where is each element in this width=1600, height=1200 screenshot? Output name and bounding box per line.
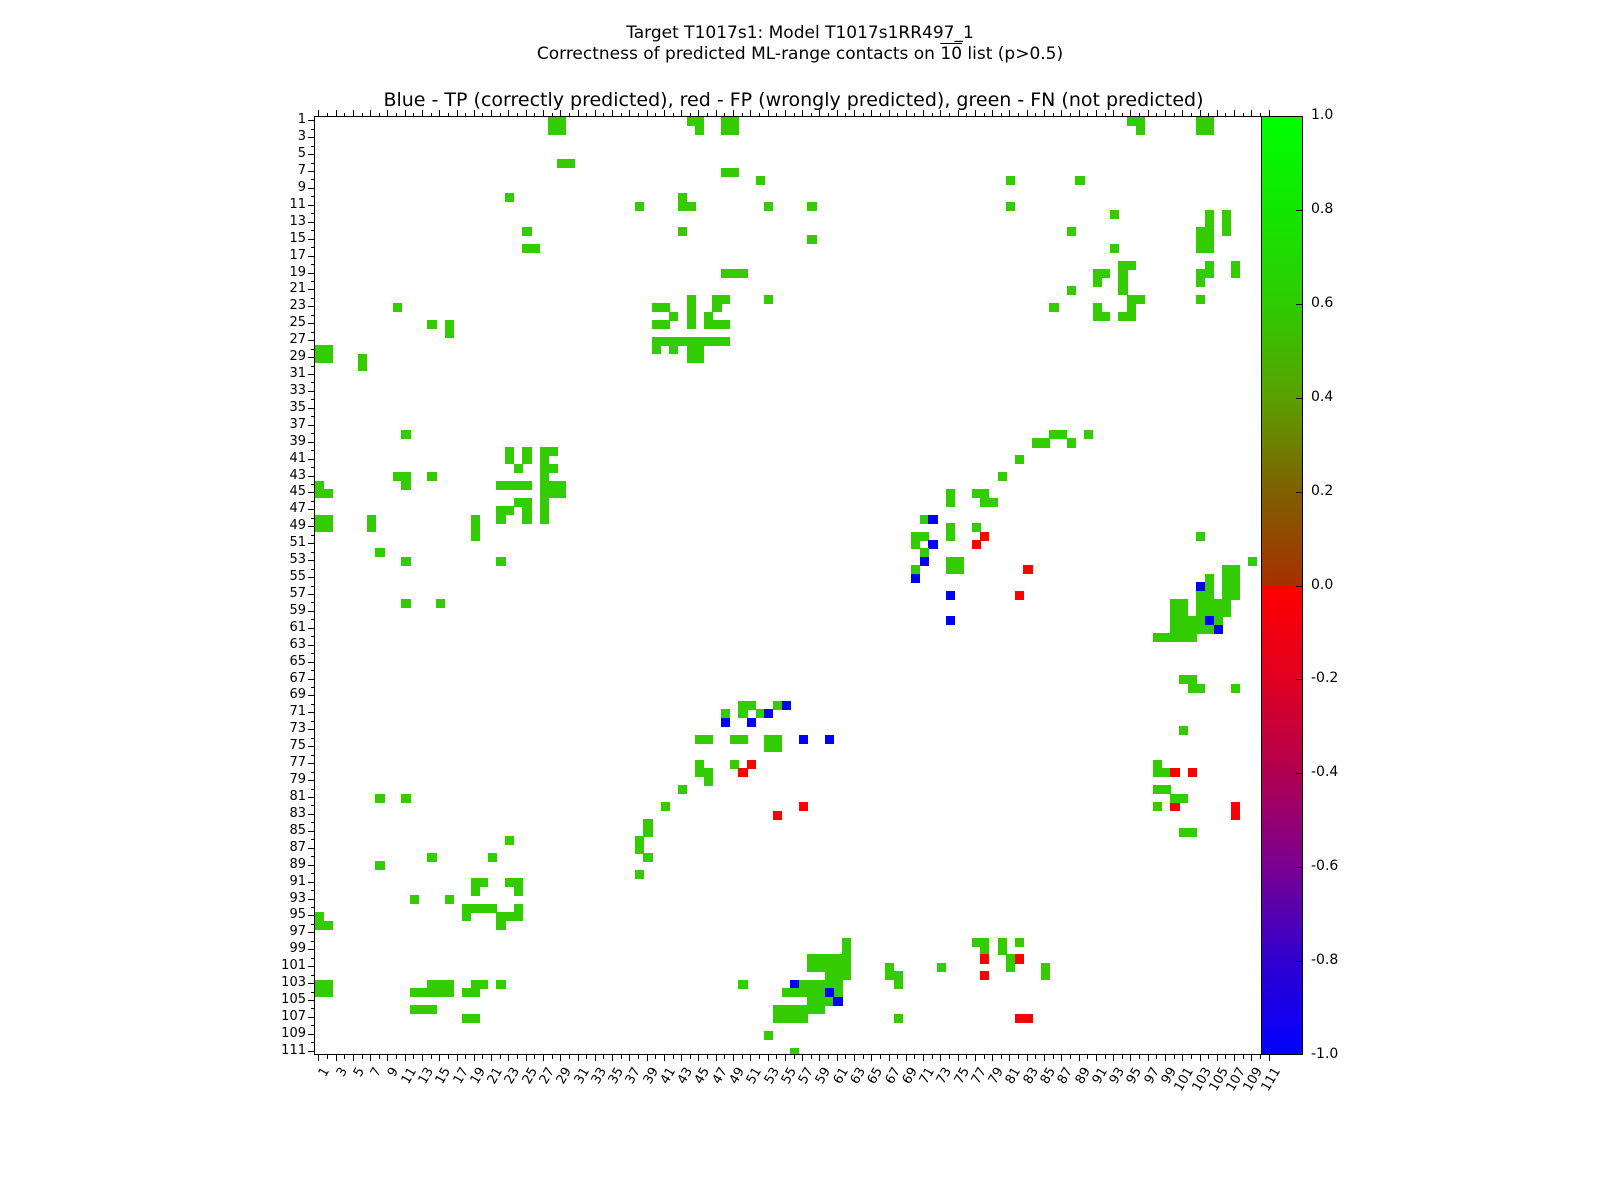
contact-cell-mirror: [704, 735, 713, 744]
y-tick-label: 95: [254, 907, 306, 922]
x-tick-bottom: [1165, 1055, 1166, 1061]
contact-cell-mirror: [1093, 278, 1102, 287]
contact-cell: [799, 1014, 808, 1023]
x-tick-label: 99: [1143, 1065, 1180, 1114]
x-tick-label: 39: [625, 1065, 662, 1114]
contact-cell-mirror: [1118, 286, 1127, 295]
contact-cell: [375, 548, 384, 557]
x-tick-label: 87: [1039, 1065, 1076, 1114]
y-tick-label: 103: [254, 975, 306, 990]
contact-cell: [1136, 125, 1145, 134]
x-tick-bottom: [914, 1055, 915, 1059]
contact-cell-mirror: [1196, 625, 1205, 634]
contact-cell-mirror: [410, 895, 419, 904]
x-tick-bottom: [750, 1055, 751, 1061]
y-tick-label: 17: [254, 248, 306, 263]
x-tick-label: 97: [1126, 1065, 1163, 1114]
colorbar-tick-label: 0.4: [1311, 389, 1333, 405]
suptitle-list-fraction: 10: [940, 44, 962, 64]
contact-cell: [738, 980, 747, 989]
contact-cells-layer: [315, 117, 1272, 1054]
contact-cell: [980, 971, 989, 980]
contact-cell: [972, 540, 981, 549]
contact-cell: [635, 845, 644, 854]
contact-cell: [462, 912, 471, 921]
x-tick-bottom: [776, 1055, 777, 1059]
contact-cell-mirror: [1023, 1014, 1032, 1023]
x-tick-label: 103: [1178, 1065, 1215, 1114]
y-tick-label: 77: [254, 755, 306, 770]
contact-cell-mirror: [954, 557, 963, 566]
contact-cell-mirror: [807, 235, 816, 244]
contact-cell-mirror: [548, 447, 557, 456]
contact-cell: [471, 988, 480, 997]
contact-cell: [1041, 438, 1050, 447]
contact-cell-mirror: [522, 227, 531, 236]
x-tick-bottom: [1061, 1055, 1062, 1061]
contact-cell: [773, 811, 782, 820]
contact-cell: [1006, 963, 1015, 972]
contact-cell: [324, 489, 333, 498]
x-tick-bottom: [560, 1055, 561, 1061]
x-tick-bottom: [940, 1055, 941, 1061]
contact-cell-mirror: [566, 159, 575, 168]
contact-cell-mirror: [1205, 244, 1214, 253]
x-tick-label: 83: [1005, 1065, 1042, 1114]
x-tick-bottom: [1001, 1055, 1002, 1059]
y-tick-label: 21: [254, 281, 306, 296]
x-tick-bottom: [837, 1055, 838, 1061]
x-tick-bottom: [647, 1055, 648, 1061]
y-tick-label: 107: [254, 1009, 306, 1024]
y-tick-label: 23: [254, 298, 306, 313]
contact-cell-mirror: [833, 997, 842, 1006]
y-tick-label: 35: [254, 400, 306, 415]
contact-cell: [1231, 684, 1240, 693]
contact-cell: [799, 735, 808, 744]
contact-cell: [1196, 684, 1205, 693]
x-tick-bottom: [819, 1055, 820, 1061]
contact-cell: [738, 735, 747, 744]
contact-cell: [1110, 244, 1119, 253]
contact-cell-mirror: [980, 954, 989, 963]
contact-cell: [488, 904, 497, 913]
x-tick-label: 27: [521, 1065, 558, 1114]
x-tick-label: 25: [504, 1065, 541, 1114]
contact-cell: [548, 464, 557, 473]
contact-cell: [1205, 125, 1214, 134]
contact-cell-mirror: [1188, 828, 1197, 837]
x-tick-bottom: [1044, 1055, 1045, 1061]
contact-cell: [721, 320, 730, 329]
contact-cell: [358, 362, 367, 371]
axes-title-legend: Blue - TP (correctly predicted), red - F…: [314, 89, 1273, 111]
contact-cell: [1067, 227, 1076, 236]
contact-cell-mirror: [401, 481, 410, 490]
contact-cell-mirror: [799, 802, 808, 811]
contact-cell-mirror: [479, 980, 488, 989]
contact-cell-mirror: [367, 523, 376, 532]
contact-cell: [436, 599, 445, 608]
x-tick-bottom: [923, 1055, 924, 1061]
colorbar-tick-label: 0.0: [1311, 577, 1333, 593]
contact-cell-mirror: [1023, 565, 1032, 574]
contact-cell: [445, 988, 454, 997]
contact-cell: [1214, 625, 1223, 634]
contact-cell-mirror: [738, 269, 747, 278]
contact-cell: [721, 718, 730, 727]
figure-suptitle-line-1: Target T1017s1: Model T1017s1RR497_1: [0, 22, 1600, 45]
contact-map-plot-area[interactable]: [314, 116, 1273, 1055]
contact-cell: [695, 735, 704, 744]
x-tick-bottom: [871, 1055, 872, 1061]
contact-cell: [496, 515, 505, 524]
contact-cell-mirror: [1127, 312, 1136, 321]
y-tick-label: 67: [254, 671, 306, 686]
x-tick-bottom: [396, 1055, 397, 1059]
contact-cell-mirror: [445, 895, 454, 904]
x-tick-label: 1: [296, 1065, 333, 1114]
contact-cell: [1067, 438, 1076, 447]
contact-map-figure: Target T1017s1: Model T1017s1RR497_1 Cor…: [0, 0, 1600, 1200]
contact-cell-mirror: [920, 557, 929, 566]
y-tick-label: 37: [254, 417, 306, 432]
contact-cell: [427, 320, 436, 329]
y-tick-label: 79: [254, 772, 306, 787]
y-tick-label: 3: [254, 129, 306, 144]
colorbar-tick-label: -0.4: [1311, 764, 1338, 780]
contact-cell-mirror: [946, 591, 955, 600]
x-tick-label: 89: [1057, 1065, 1094, 1114]
contact-cell: [522, 498, 531, 507]
contact-cell: [514, 464, 523, 473]
contact-cell: [885, 971, 894, 980]
colorbar-tick-label: -0.2: [1311, 670, 1338, 686]
contact-cell-mirror: [375, 861, 384, 870]
contact-cell-mirror: [678, 785, 687, 794]
x-tick-bottom: [439, 1055, 440, 1061]
x-tick-bottom: [465, 1055, 466, 1059]
y-tick-label: 45: [254, 484, 306, 499]
contact-cell-mirror: [678, 337, 687, 346]
contact-cell-mirror: [704, 320, 713, 329]
y-tick-label: 29: [254, 349, 306, 364]
contact-cell-mirror: [427, 853, 436, 862]
x-tick-bottom: [405, 1055, 406, 1061]
contact-cell: [989, 498, 998, 507]
x-tick-bottom: [880, 1055, 881, 1059]
x-tick-bottom: [1251, 1055, 1252, 1061]
y-tick-label: 75: [254, 738, 306, 753]
contact-cell: [954, 565, 963, 574]
contact-cell: [695, 768, 704, 777]
x-tick-label: 85: [1022, 1065, 1059, 1114]
contact-cell-mirror: [522, 515, 531, 524]
x-tick-bottom: [733, 1055, 734, 1061]
x-tick-bottom: [431, 1055, 432, 1059]
contact-cell: [946, 616, 955, 625]
x-tick-bottom: [1027, 1055, 1028, 1061]
x-tick-bottom: [802, 1055, 803, 1061]
contact-cell: [1196, 295, 1205, 304]
x-tick-bottom: [1139, 1055, 1140, 1059]
contact-cell: [730, 168, 739, 177]
x-tick-label: 29: [538, 1065, 575, 1114]
x-tick-label: 75: [936, 1065, 973, 1114]
contact-cell-mirror: [1179, 726, 1188, 735]
x-tick-bottom: [457, 1055, 458, 1061]
contact-cell-mirror: [704, 777, 713, 786]
contact-cell-mirror: [643, 828, 652, 837]
x-tick-bottom: [612, 1055, 613, 1061]
contact-cell-mirror: [946, 489, 955, 498]
x-tick-label: 43: [659, 1065, 696, 1114]
x-tick-bottom: [491, 1055, 492, 1061]
contact-cell: [393, 303, 402, 312]
x-tick-bottom: [1234, 1055, 1235, 1061]
x-tick-bottom: [889, 1055, 890, 1061]
contact-cell: [401, 599, 410, 608]
y-tick-label: 85: [254, 823, 306, 838]
x-tick-bottom: [448, 1055, 449, 1059]
y-tick-label: 59: [254, 603, 306, 618]
contact-cell-mirror: [1015, 455, 1024, 464]
x-tick-bottom: [526, 1055, 527, 1061]
x-tick-label: 3: [314, 1065, 351, 1114]
x-tick-bottom: [543, 1055, 544, 1061]
x-tick-bottom: [1070, 1055, 1071, 1059]
contact-cell-mirror: [1205, 616, 1214, 625]
contact-cell-mirror: [764, 295, 773, 304]
contact-cell-mirror: [1205, 269, 1214, 278]
contact-cell: [1075, 176, 1084, 185]
x-tick-bottom: [1269, 1055, 1270, 1061]
x-tick-bottom: [482, 1055, 483, 1059]
x-tick-bottom: [1182, 1055, 1183, 1061]
contact-cell-mirror: [747, 760, 756, 769]
x-tick-bottom: [413, 1055, 414, 1059]
contact-cell-mirror: [790, 1048, 799, 1055]
x-tick-bottom: [932, 1055, 933, 1059]
contact-cell-mirror: [324, 921, 333, 930]
x-tick-bottom: [1225, 1055, 1226, 1059]
x-tick-bottom: [906, 1055, 907, 1061]
x-tick-label: 107: [1212, 1065, 1249, 1114]
x-tick-bottom: [1191, 1055, 1192, 1059]
x-tick-label: 23: [486, 1065, 523, 1114]
contact-cell: [833, 963, 842, 972]
contact-cell: [1006, 202, 1015, 211]
contact-cell-mirror: [928, 515, 937, 524]
x-tick-bottom: [1130, 1055, 1131, 1061]
contact-cell: [1231, 269, 1240, 278]
contact-cell: [1067, 286, 1076, 295]
x-tick-bottom: [794, 1055, 795, 1059]
contact-cell: [738, 768, 747, 777]
contact-cell: [401, 557, 410, 566]
y-tick-label: 111: [254, 1043, 306, 1058]
contact-cell: [514, 887, 523, 896]
y-tick-label: 69: [254, 687, 306, 702]
x-tick-label: 63: [832, 1065, 869, 1114]
contact-cell-mirror: [505, 193, 514, 202]
contact-cell-mirror: [1248, 557, 1257, 566]
x-tick-bottom: [966, 1055, 967, 1059]
x-tick-bottom: [698, 1055, 699, 1061]
colorbar-tick: [1296, 867, 1303, 868]
x-tick-bottom: [1009, 1055, 1010, 1061]
contact-cell: [1015, 1014, 1024, 1023]
y-tick-label: 65: [254, 654, 306, 669]
contact-cell-mirror: [471, 1014, 480, 1023]
contact-cell: [557, 489, 566, 498]
colorbar-tick: [1296, 679, 1303, 680]
contact-cell: [540, 498, 549, 507]
contact-cell-mirror: [980, 532, 989, 541]
x-tick-label: 67: [867, 1065, 904, 1114]
x-tick-bottom: [1174, 1055, 1175, 1059]
y-tick-label: 71: [254, 704, 306, 719]
y-tick-label: 63: [254, 637, 306, 652]
contact-cell: [1136, 295, 1145, 304]
y-tick-label: 51: [254, 535, 306, 550]
x-tick-bottom: [508, 1055, 509, 1061]
x-tick-label: 77: [953, 1065, 990, 1114]
contact-cell: [911, 574, 920, 583]
y-tick-label: 47: [254, 501, 306, 516]
y-tick-label: 43: [254, 468, 306, 483]
contact-cell: [1231, 811, 1240, 820]
contact-cell: [998, 472, 1007, 481]
colorbar-container[interactable]: 1.00.80.60.40.20.0-0.2-0.4-0.6-0.8-1.0: [1261, 116, 1303, 1055]
y-tick-label: 61: [254, 620, 306, 635]
y-tick-label: 33: [254, 383, 306, 398]
x-tick-bottom: [681, 1055, 682, 1061]
contact-cell-mirror: [721, 337, 730, 346]
y-tick-label: 55: [254, 569, 306, 584]
contact-cell: [540, 472, 549, 481]
contact-cell-mirror: [807, 202, 816, 211]
contact-cell-mirror: [825, 735, 834, 744]
x-tick-label: 91: [1074, 1065, 1111, 1114]
contact-cell: [764, 1031, 773, 1040]
contact-cell: [324, 523, 333, 532]
contact-cell: [825, 988, 834, 997]
x-tick-bottom: [1053, 1055, 1054, 1059]
contact-cell: [540, 515, 549, 524]
y-tick-label: 87: [254, 840, 306, 855]
x-tick-bottom: [1208, 1055, 1209, 1059]
x-tick-bottom: [586, 1055, 587, 1059]
x-tick-bottom: [318, 1055, 319, 1061]
contact-cell-mirror: [1222, 227, 1231, 236]
x-tick-bottom: [629, 1055, 630, 1061]
x-tick-bottom: [1122, 1055, 1123, 1059]
x-tick-bottom: [517, 1055, 518, 1059]
contact-cell: [635, 202, 644, 211]
contact-cell-mirror: [557, 125, 566, 134]
x-tick-bottom: [958, 1055, 959, 1061]
colorbar-tick-label: -0.8: [1311, 952, 1338, 968]
contact-cell: [514, 912, 523, 921]
contact-cell-mirror: [1188, 768, 1197, 777]
y-tick-label: 31: [254, 366, 306, 381]
contact-cell: [324, 354, 333, 363]
x-tick-bottom: [1035, 1055, 1036, 1059]
contact-cell-mirror: [505, 836, 514, 845]
contact-cell-mirror: [1170, 802, 1179, 811]
x-tick-bottom: [854, 1055, 855, 1061]
x-tick-bottom: [1087, 1055, 1088, 1059]
colorbar-tick: [1296, 210, 1303, 211]
contact-cell-mirror: [980, 489, 989, 498]
x-tick-bottom: [569, 1055, 570, 1059]
contact-cell: [661, 320, 670, 329]
x-tick-label: 109: [1229, 1065, 1266, 1114]
colorbar-tick-label: -0.6: [1311, 858, 1338, 874]
contact-cell-mirror: [1188, 675, 1197, 684]
y-tick-label: 1: [254, 112, 306, 127]
contact-cell-mirror: [946, 532, 955, 541]
x-tick-label: 93: [1091, 1065, 1128, 1114]
suptitle-suffix: list (p>0.5): [962, 44, 1063, 64]
contact-cell-mirror: [643, 853, 652, 862]
contact-cell-mirror: [1222, 608, 1231, 617]
x-tick-bottom: [992, 1055, 993, 1061]
contact-cell-mirror: [1196, 532, 1205, 541]
x-tick-label: 9: [365, 1065, 402, 1114]
x-tick-label: 81: [987, 1065, 1024, 1114]
x-tick-bottom: [690, 1055, 691, 1059]
contact-cell: [652, 345, 661, 354]
contact-cell: [427, 1005, 436, 1014]
colorbar-tick: [1296, 492, 1303, 493]
x-tick-label: 51: [728, 1065, 765, 1114]
contact-cell: [635, 870, 644, 879]
y-tick-label: 83: [254, 806, 306, 821]
x-tick-label: 17: [435, 1065, 472, 1114]
contact-cell: [471, 532, 480, 541]
x-tick-bottom: [603, 1055, 604, 1059]
y-tick-label: 15: [254, 231, 306, 246]
contact-cell-mirror: [1179, 794, 1188, 803]
x-tick-bottom: [1018, 1055, 1019, 1059]
colorbar-tick: [1296, 961, 1303, 962]
contact-cell: [1196, 278, 1205, 287]
x-tick-label: 105: [1195, 1065, 1232, 1114]
contact-cell: [946, 498, 955, 507]
x-tick-bottom: [716, 1055, 717, 1061]
x-tick-label: 31: [556, 1065, 593, 1114]
x-tick-bottom: [1260, 1055, 1261, 1059]
x-tick-label: 13: [400, 1065, 437, 1114]
y-tick-label: 13: [254, 214, 306, 229]
contact-cell: [1188, 633, 1197, 642]
x-tick-label: 95: [1108, 1065, 1145, 1114]
colorbar-tick: [1296, 304, 1303, 305]
suptitle-prefix: Correctness of predicted ML-range contac…: [537, 44, 941, 64]
contact-cell-mirror: [773, 743, 782, 752]
x-tick-label: 37: [607, 1065, 644, 1114]
y-tick-label: 41: [254, 451, 306, 466]
x-tick-bottom: [474, 1055, 475, 1061]
x-tick-bottom: [534, 1055, 535, 1059]
x-tick-label: 111: [1247, 1065, 1284, 1114]
contact-cell-mirror: [1084, 430, 1093, 439]
y-tick-label: 19: [254, 265, 306, 280]
x-tick-label: 15: [417, 1065, 454, 1114]
contact-cell: [678, 227, 687, 236]
